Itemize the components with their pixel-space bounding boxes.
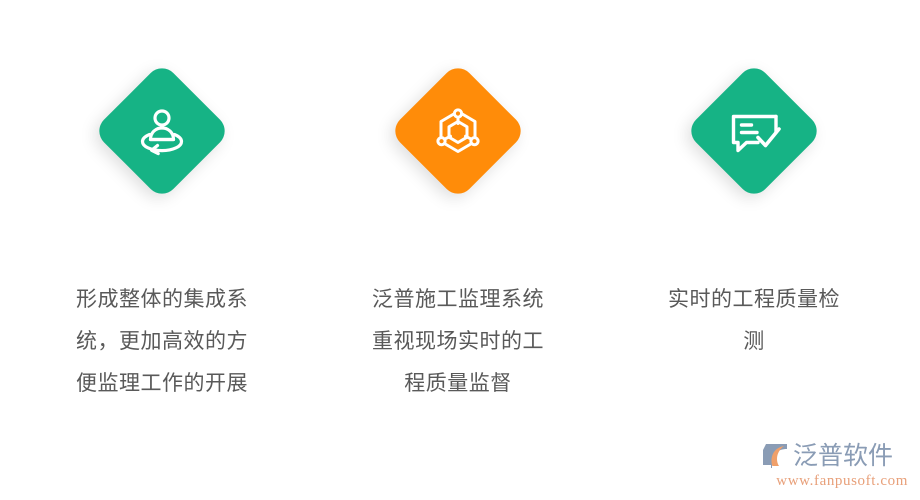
watermark-brand: 泛普软件 (793, 441, 893, 471)
feature-card-2: 泛普施工监理系统重视现场实时的工程质量监督 (310, 0, 606, 404)
feature-card-1: 形成整体的集成系统，更加高效的方便监理工作的开展 (14, 0, 310, 404)
watermark: 泛普软件 www.fanpusoft.com (760, 440, 908, 492)
watermark-url: www.fanpusoft.com (760, 472, 908, 490)
chat-check-icon (685, 62, 823, 200)
feature-caption-1: 形成整体的集成系统，更加高效的方便监理工作的开展 (67, 278, 257, 404)
person-orbit-icon (93, 62, 231, 200)
feature-caption-3: 实时的工程质量检测 (659, 278, 849, 362)
hexagon-network-icon (389, 62, 527, 200)
feature-badge-1 (93, 62, 231, 200)
watermark-top: 泛普软件 (760, 440, 908, 472)
feature-badge-2 (389, 62, 527, 200)
feature-cards-row: 形成整体的集成系统，更加高效的方便监理工作的开展 泛普施工监理系统重视现场实时的… (0, 0, 920, 500)
feature-caption-2: 泛普施工监理系统重视现场实时的工程质量监督 (363, 278, 553, 404)
fanpu-logo-icon (760, 441, 790, 471)
feature-card-3: 实时的工程质量检测 (606, 0, 902, 362)
feature-badge-3 (685, 62, 823, 200)
